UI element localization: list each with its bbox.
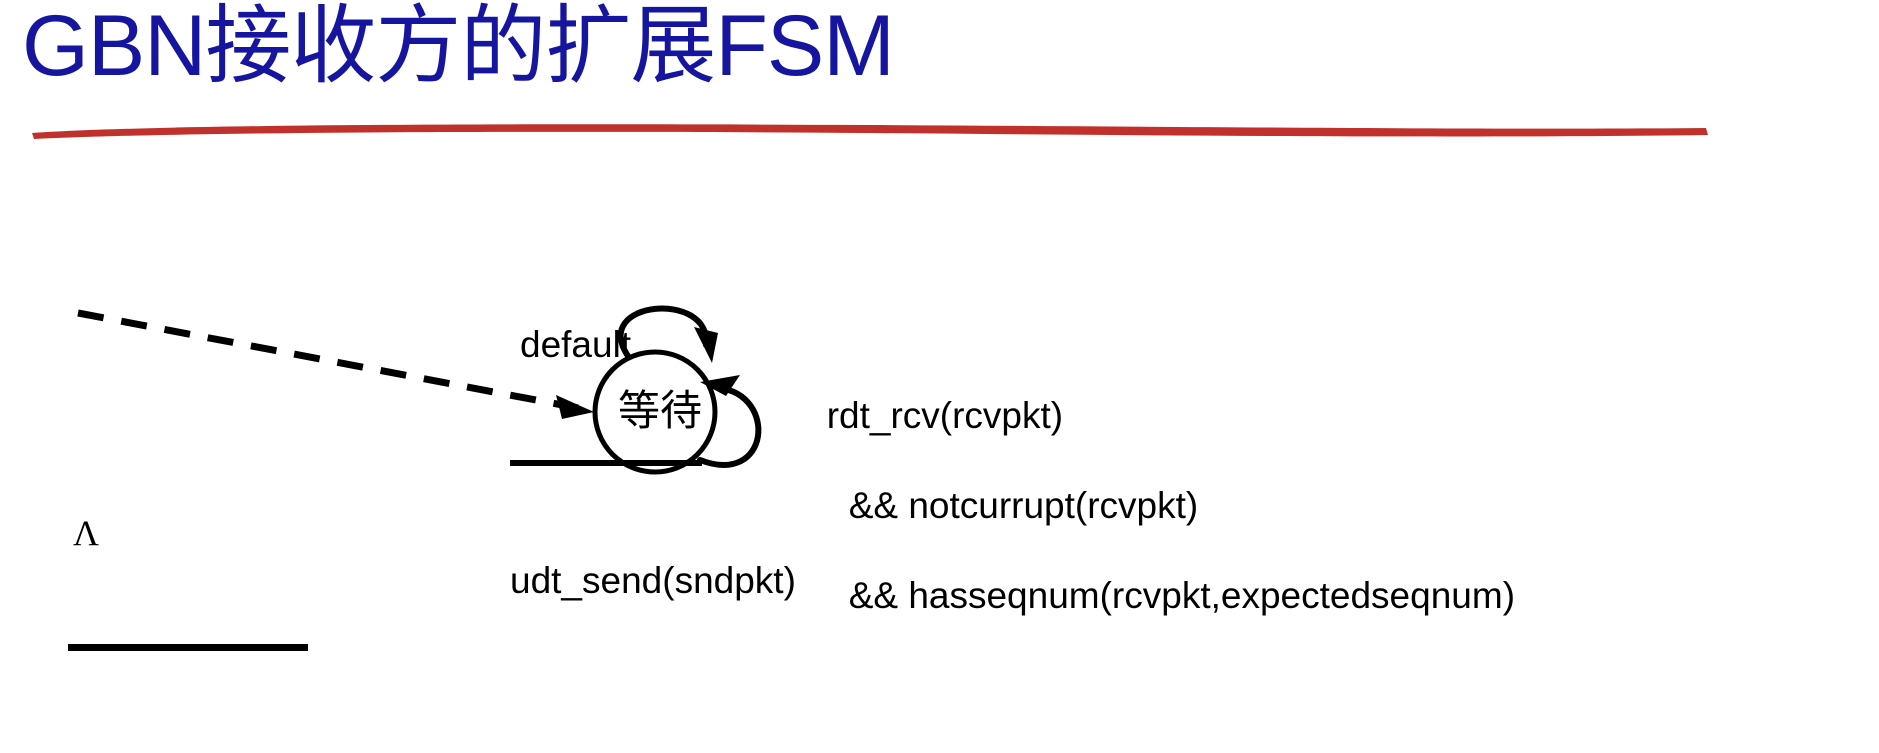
receive-conditions: rdt_rcv(rcvpkt) && notcurrupt(rcvpkt) &&… — [765, 348, 1669, 663]
slide-canvas: GBN接收方的扩展FSM 等待 default udt_send(sndpkt) — [0, 0, 1879, 753]
init-transition-label: Λ expectedseqnum=1 sndpkt = make_pkt(exp… — [68, 427, 841, 753]
receive-condition-0: rdt_rcv(rcvpkt) — [827, 395, 1063, 436]
receive-condition-1: && notcurrupt(rcvpkt) — [827, 485, 1199, 526]
init-divider — [68, 644, 308, 651]
receive-transition-label: rdt_rcv(rcvpkt) && notcurrupt(rcvpkt) &&… — [765, 258, 1669, 753]
default-condition: default — [510, 322, 796, 367]
receive-condition-2: && hasseqnum(rcvpkt,expectedseqnum) — [827, 575, 1515, 616]
init-condition: Λ — [68, 517, 841, 549]
init-actions: expectedseqnum=1 sndpkt = make_pkt(expec… — [68, 744, 841, 753]
